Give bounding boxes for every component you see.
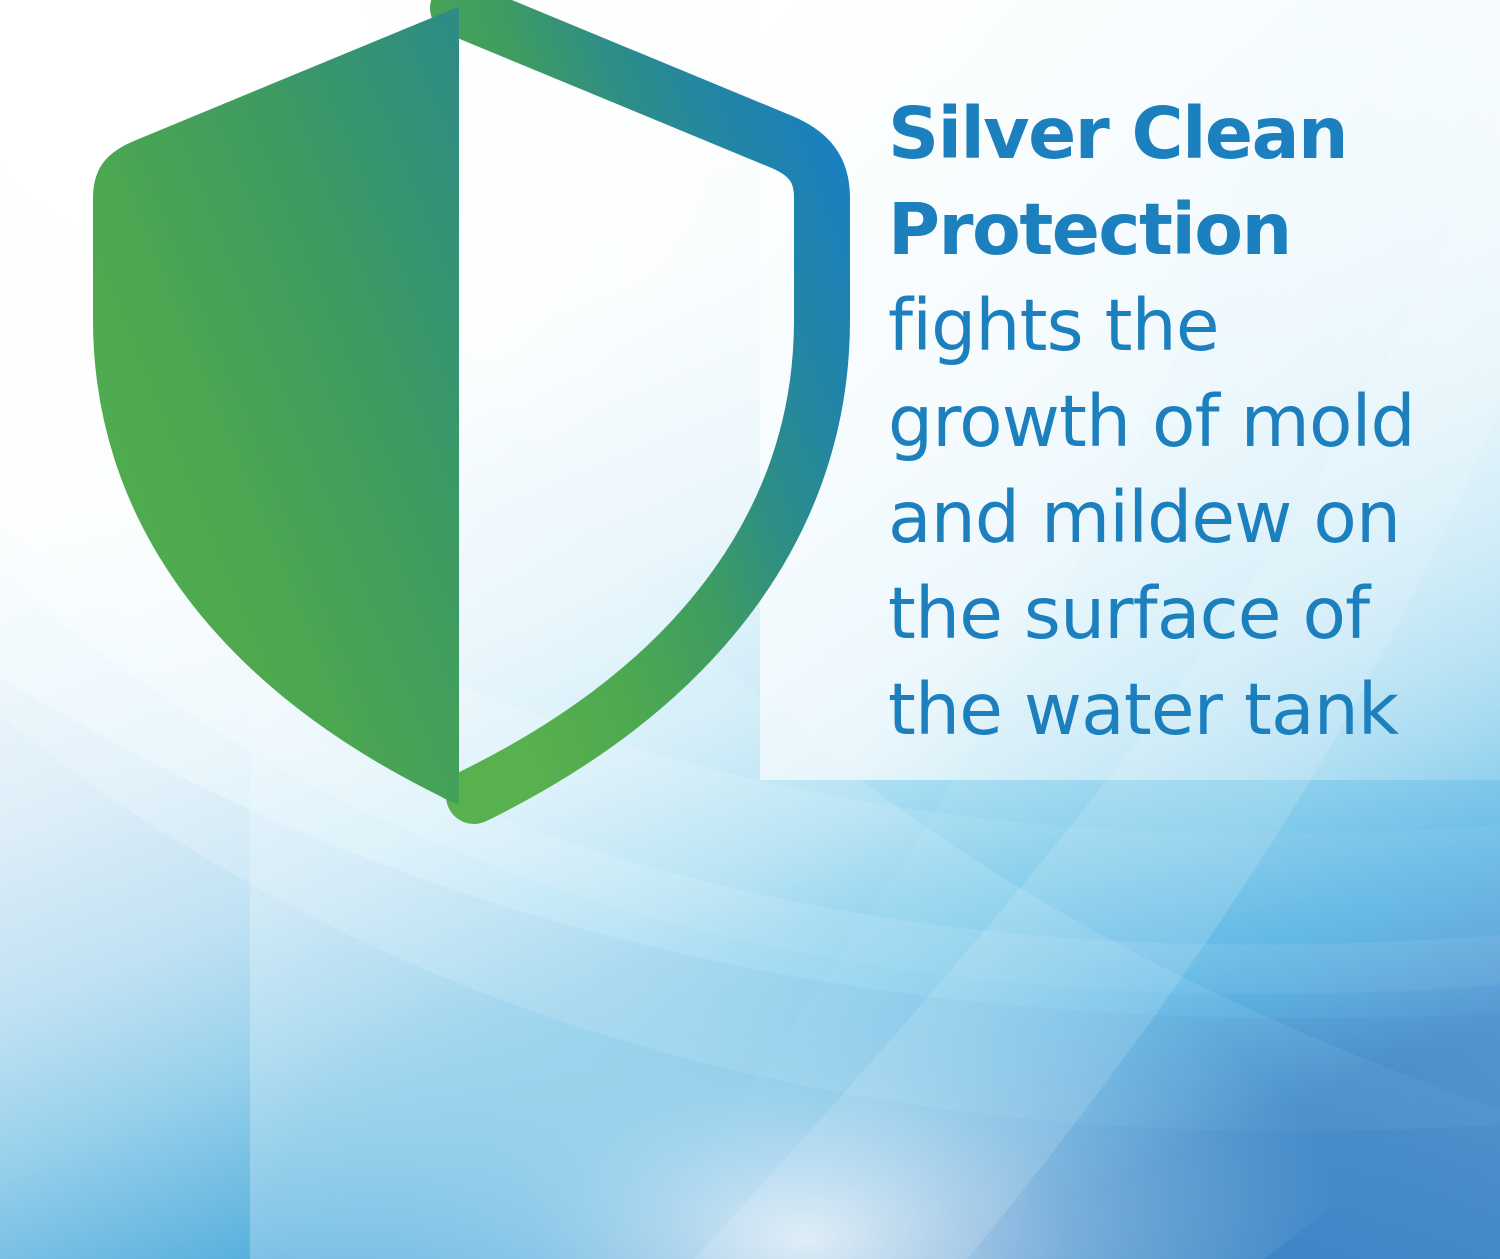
headline-line-2: Protection	[888, 182, 1418, 278]
shield-right-outline	[458, 8, 822, 796]
headline-line-1: Silver Clean	[888, 86, 1418, 182]
body-line-1: fights the	[888, 278, 1418, 374]
shield-icon	[70, 0, 860, 830]
body-line-2: growth of mold	[888, 374, 1418, 470]
body-line-3: and mildew on	[888, 470, 1418, 566]
shield-left-fill	[94, 8, 458, 803]
body-line-5: the water tank	[888, 662, 1418, 758]
promo-copy-block: Silver Clean Protection fights the growt…	[888, 86, 1418, 758]
promo-banner: Silver Clean Protection fights the growt…	[0, 0, 1500, 1259]
body-line-4: the surface of	[888, 566, 1418, 662]
